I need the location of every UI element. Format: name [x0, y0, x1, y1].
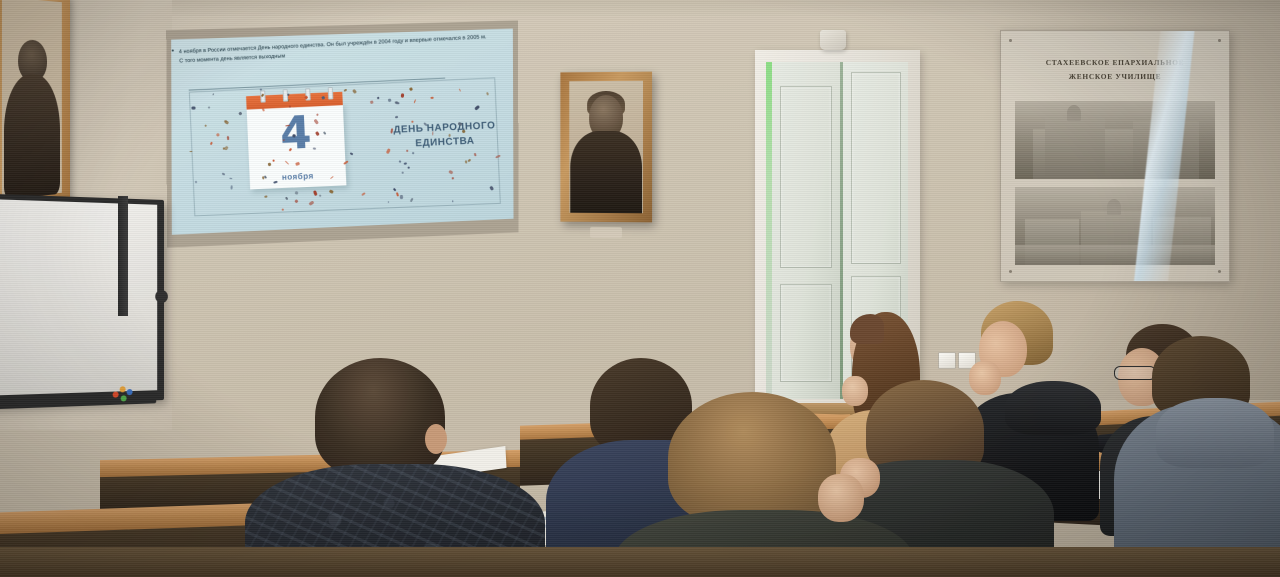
hood: [1156, 398, 1274, 468]
whiteboard-pivot-knob: [155, 290, 168, 303]
calendar-month-label: ноября: [282, 171, 314, 182]
framed-portrait-center: [560, 72, 652, 223]
mobile-whiteboard: [0, 193, 164, 406]
portrait-left-figure: [2, 38, 62, 198]
confetti-piece: [400, 93, 404, 98]
hair-front: [850, 314, 884, 344]
classroom-scene: 4 ноября в России отмечается День народн…: [0, 0, 1280, 577]
historic-photo-poster: СТАХЕЕВСКОЕ ЕПАРХИАЛЬНОЕ ЖЕНСКОЕ УЧИЛИЩЕ: [1000, 30, 1230, 282]
confetti-piece: [209, 141, 212, 145]
portrait-center-canvas: [569, 81, 643, 214]
confetti-piece: [400, 195, 403, 199]
hair: [668, 392, 836, 524]
confetti-piece: [230, 185, 232, 189]
projection-screen: 4 ноября в России отмечается День народн…: [166, 20, 519, 248]
framed-portrait-left: [0, 0, 70, 209]
poster-title-line-2: ЖЕНСКОЕ УЧИЛИЩЕ: [1001, 71, 1229, 84]
slide-body-text: 4 ноября в России отмечается День народн…: [179, 33, 488, 67]
ear: [425, 424, 447, 454]
door-panel: [780, 86, 832, 268]
poster-title-line-1: СТАХЕЕВСКОЕ ЕПАРХИАЛЬНОЕ: [1001, 57, 1229, 70]
calendar-day-number: 4: [279, 111, 312, 158]
confetti-piece: [268, 162, 271, 166]
confetti-piece: [295, 191, 298, 194]
slide-bullet-marker: [172, 49, 174, 51]
confetti-piece: [411, 120, 413, 122]
confetti-piece: [189, 150, 192, 152]
slide-headline: ДЕНЬ НАРОДНОГО ЕДИНСТВА: [387, 119, 502, 152]
poster-photo-bottom: [1015, 187, 1215, 265]
whiteboard-stand: [118, 196, 128, 316]
portrait-left-mat: [2, 0, 62, 198]
door-panel: [851, 72, 901, 264]
projected-slide: 4 ноября в России отмечается День народн…: [171, 29, 513, 236]
calendar-ring: [328, 87, 333, 100]
hair: [315, 358, 445, 476]
student-patterned-jacket: [265, 358, 525, 577]
portrait-left-body: [4, 73, 60, 199]
wall-sensor-icon: [820, 30, 846, 50]
portrait-center-body: [570, 131, 642, 213]
whiteboard-surface: [0, 199, 157, 396]
door-panel: [780, 284, 832, 382]
hand: [818, 474, 864, 522]
confetti-piece: [395, 102, 399, 104]
confetti-piece: [407, 166, 410, 168]
confetti-piece: [287, 94, 290, 96]
student-gray-hoodie: [1130, 350, 1280, 577]
light-switch[interactable]: [938, 352, 956, 369]
slide-content: 4 ноября в России отмечается День народн…: [171, 29, 513, 236]
portrait-center-nameplate: [590, 227, 622, 238]
floor: [0, 547, 1280, 577]
